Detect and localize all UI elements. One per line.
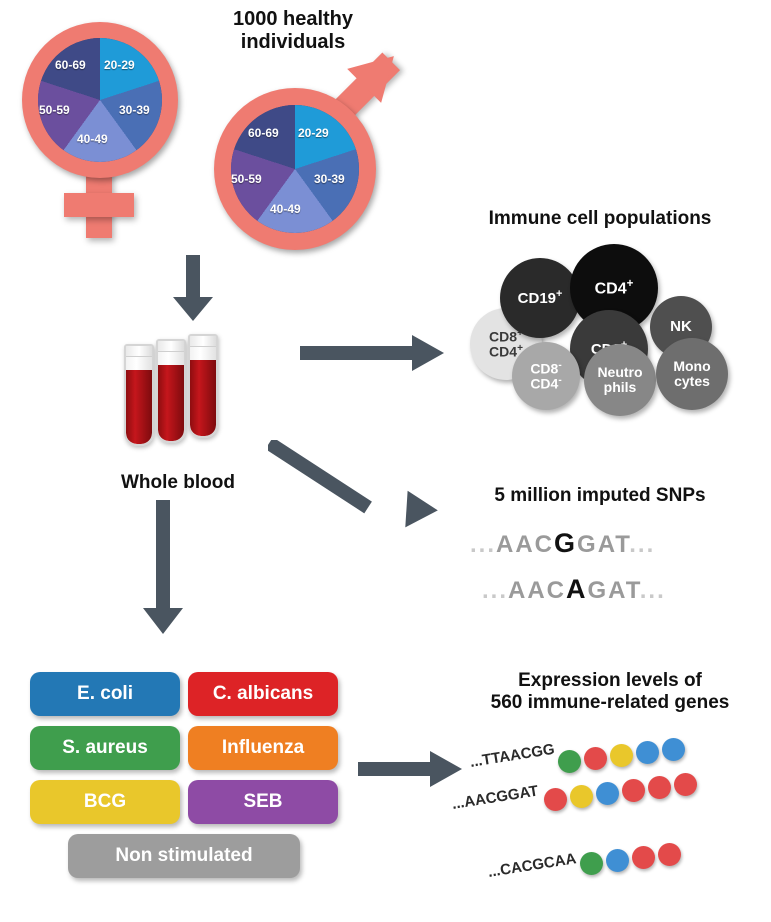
stimulus-label-c-albicans: C. albicans: [213, 683, 313, 705]
immune-cell-label-cd4-positive: CD4+: [595, 278, 634, 298]
expression-bead-2-1: [544, 788, 567, 811]
expression-bead-2-6: [674, 773, 697, 796]
stimulus-bcg[interactable]: BCG: [30, 780, 180, 824]
stimulus-seb[interactable]: SEB: [188, 780, 338, 824]
snps-sequences: ...AACGGAT... ...AACAGAT...: [470, 528, 740, 618]
expression-bead-1-1: [558, 750, 581, 773]
expression-bead-1-5: [662, 738, 685, 761]
expression-bead-3-3: [632, 846, 655, 869]
snp-row1-left: AAC: [496, 531, 554, 558]
snp-row1-suffix: ...: [629, 531, 655, 558]
female-label-20-29: 20-29: [104, 58, 135, 72]
expression-bead-3-1: [580, 852, 603, 875]
immune-cell-cd19-positive: CD19+: [500, 258, 580, 338]
stimulus-label-e-coli: E. coli: [77, 683, 133, 705]
snp-row2-right: GAT: [588, 577, 640, 604]
male-label-60-69: 60-69: [248, 126, 279, 140]
tube-blood-3: [190, 360, 216, 436]
arrow-blood-to-snps: [268, 440, 448, 550]
stimuli-grid: E. coli C. albicans S. aureus Influenza …: [30, 672, 340, 897]
expression-bead-3-2: [606, 849, 629, 872]
male-label-40-49: 40-49: [270, 202, 301, 216]
tube-cap-2: [158, 341, 184, 352]
expression-bead-1-3: [610, 744, 633, 767]
stimulus-c-albicans[interactable]: C. albicans: [188, 672, 338, 716]
expression-bead-2-4: [622, 779, 645, 802]
expression-bead-2-3: [596, 782, 619, 805]
stimulus-influenza[interactable]: Influenza: [188, 726, 338, 770]
whole-blood-label: Whole blood: [78, 472, 278, 494]
snp-row2-left: AAC: [508, 577, 566, 604]
arrow-cohort-to-blood: [170, 255, 220, 325]
immune-cell-label-cd8-cd4-double-negative: CD8-CD4-: [530, 361, 561, 392]
expression-sequence-1: ...TTAACGG: [469, 741, 556, 771]
blood-tubes: [118, 334, 238, 444]
arrow-blood-to-immune: [300, 330, 450, 380]
immune-cell-label-nk: NK: [670, 319, 692, 335]
snp-row2-prefix: ...: [482, 577, 508, 604]
cohort-title-line1: 1000 healthy: [178, 8, 408, 31]
immune-cell-neutrophils: Neutrophils: [584, 344, 656, 416]
female-label-50-59: 50-59: [39, 103, 70, 117]
stimulus-label-influenza: Influenza: [222, 737, 304, 759]
immune-cell-cd8-cd4-double-negative: CD8-CD4-: [512, 342, 580, 410]
immune-cell-cluster: CD8+CD4+ CD19+ CD4+ CD8+ NK CD8-CD4- Neu…: [460, 240, 750, 410]
stimulus-label-bcg: BCG: [84, 791, 126, 813]
male-label-50-59: 50-59: [231, 172, 262, 186]
snp-row1-right: GAT: [577, 531, 629, 558]
stimulus-non-stimulated[interactable]: Non stimulated: [68, 834, 300, 878]
expression-bead-3-4: [658, 843, 681, 866]
tube-blood-2: [158, 365, 184, 441]
female-label-30-39: 30-39: [119, 103, 150, 117]
stimulus-label-non-stimulated: Non stimulated: [115, 845, 252, 867]
expression-bead-1-4: [636, 741, 659, 764]
female-label-60-69: 60-69: [55, 58, 86, 72]
stimulus-e-coli[interactable]: E. coli: [30, 672, 180, 716]
stimulus-s-aureus[interactable]: S. aureus: [30, 726, 180, 770]
expression-sequences: ...TTAACGG ...AACGGAT ...CACGCAA: [452, 740, 762, 910]
immune-cell-label-neutrophils: Neutrophils: [597, 365, 642, 394]
stimulus-label-s-aureus: S. aureus: [62, 737, 148, 759]
male-label-30-39: 30-39: [314, 172, 345, 186]
snp-row-2: ...AACAGAT...: [482, 574, 666, 605]
male-symbol: 20-29 30-39 40-49 50-59 60-69: [200, 40, 430, 255]
expression-bead-2-5: [648, 776, 671, 799]
stimulus-label-seb: SEB: [243, 791, 282, 813]
expression-bead-1-2: [584, 747, 607, 770]
tube-cap-3: [190, 336, 216, 347]
snp-row2-variant: A: [566, 574, 588, 604]
female-label-40-49: 40-49: [77, 132, 108, 146]
blood-tube-3: [188, 334, 218, 438]
immune-cell-label-cd19-positive: CD19+: [518, 289, 563, 307]
male-label-20-29: 20-29: [298, 126, 329, 140]
arrow-blood-to-stimuli: [140, 500, 190, 640]
expression-sequence-3: ...CACGCAA: [487, 850, 578, 881]
expression-title-line2: 560 immune-related genes: [460, 692, 760, 714]
blood-tube-1: [124, 344, 154, 446]
female-symbol: 20-29 30-39 40-49 50-59 60-69: [8, 10, 198, 240]
expression-title: Expression levels of 560 immune-related …: [460, 670, 760, 714]
female-stem-cross: [64, 193, 134, 217]
immune-cell-label-monocytes: Monocytes: [673, 359, 710, 388]
expression-title-line1: Expression levels of: [460, 670, 760, 692]
immune-title: Immune cell populations: [440, 208, 760, 230]
expression-bead-2-2: [570, 785, 593, 808]
expression-sequence-2: ...AACGGAT: [451, 782, 540, 812]
blood-tube-2: [156, 339, 186, 443]
snp-row1-variant: G: [554, 528, 577, 558]
snp-row1-prefix: ...: [470, 531, 496, 558]
snp-row2-suffix: ...: [640, 577, 666, 604]
snps-title: 5 million imputed SNPs: [440, 485, 760, 507]
tube-blood-1: [126, 370, 152, 444]
immune-cell-monocytes: Monocytes: [656, 338, 728, 410]
tube-cap-1: [126, 346, 152, 357]
snp-row-1: ...AACGGAT...: [470, 528, 655, 559]
